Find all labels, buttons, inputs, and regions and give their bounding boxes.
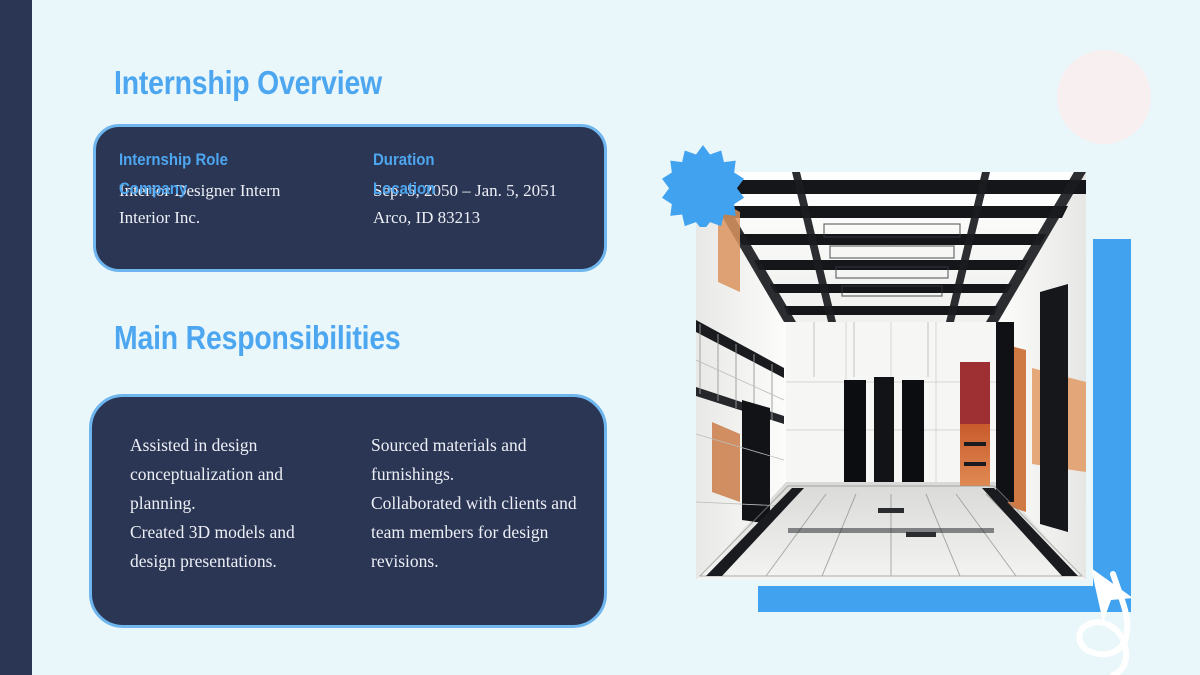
- overview-card: Internship Role Company Interior Designe…: [93, 124, 607, 272]
- slide-canvas: Internship Overview Internship Role Comp…: [0, 0, 1200, 675]
- pale-circle-decoration: [1057, 50, 1151, 144]
- starburst-icon: [662, 145, 744, 227]
- overview-column-duration: Duration Location Sep. 5, 2050 – Jan. 5,…: [350, 127, 604, 269]
- left-accent-rail: [0, 0, 32, 675]
- interior-photo: [696, 172, 1086, 580]
- page-title-overview: Internship Overview: [114, 64, 382, 102]
- field-label-duration: Duration: [373, 151, 576, 168]
- interior-photo-frame: [696, 172, 1086, 580]
- responsibilities-list-right: Sourced materials and furnishings. Colla…: [371, 431, 581, 576]
- overview-column-role: Internship Role Company Interior Designe…: [96, 127, 350, 269]
- curved-arrow-icon: [1055, 552, 1175, 675]
- list-item: Created 3D models and design presentatio…: [130, 518, 340, 576]
- interior-atrium-illustration: [696, 172, 1086, 580]
- list-item: Collaborated with clients and team membe…: [371, 489, 581, 576]
- field-label-location: Location: [373, 180, 435, 197]
- field-label-internship-role: Internship Role: [119, 151, 322, 168]
- page-title-responsibilities: Main Responsibilities: [114, 319, 401, 357]
- overview-columns: Internship Role Company Interior Designe…: [96, 127, 604, 269]
- responsibilities-card: Assisted in design conceptualization and…: [89, 394, 607, 628]
- field-label-company: Company: [119, 180, 187, 197]
- field-value-company: Interior Inc.: [119, 205, 350, 232]
- field-value-location: Arco, ID 83213: [373, 205, 604, 232]
- responsibilities-list-left: Assisted in design conceptualization and…: [130, 431, 340, 576]
- list-item: Sourced materials and furnishings.: [371, 431, 581, 489]
- responsibilities-column-left: Assisted in design conceptualization and…: [92, 397, 363, 625]
- list-item: Assisted in design conceptualization and…: [130, 431, 340, 518]
- responsibilities-column-right: Sourced materials and furnishings. Colla…: [363, 397, 604, 625]
- responsibilities-columns: Assisted in design conceptualization and…: [92, 397, 604, 625]
